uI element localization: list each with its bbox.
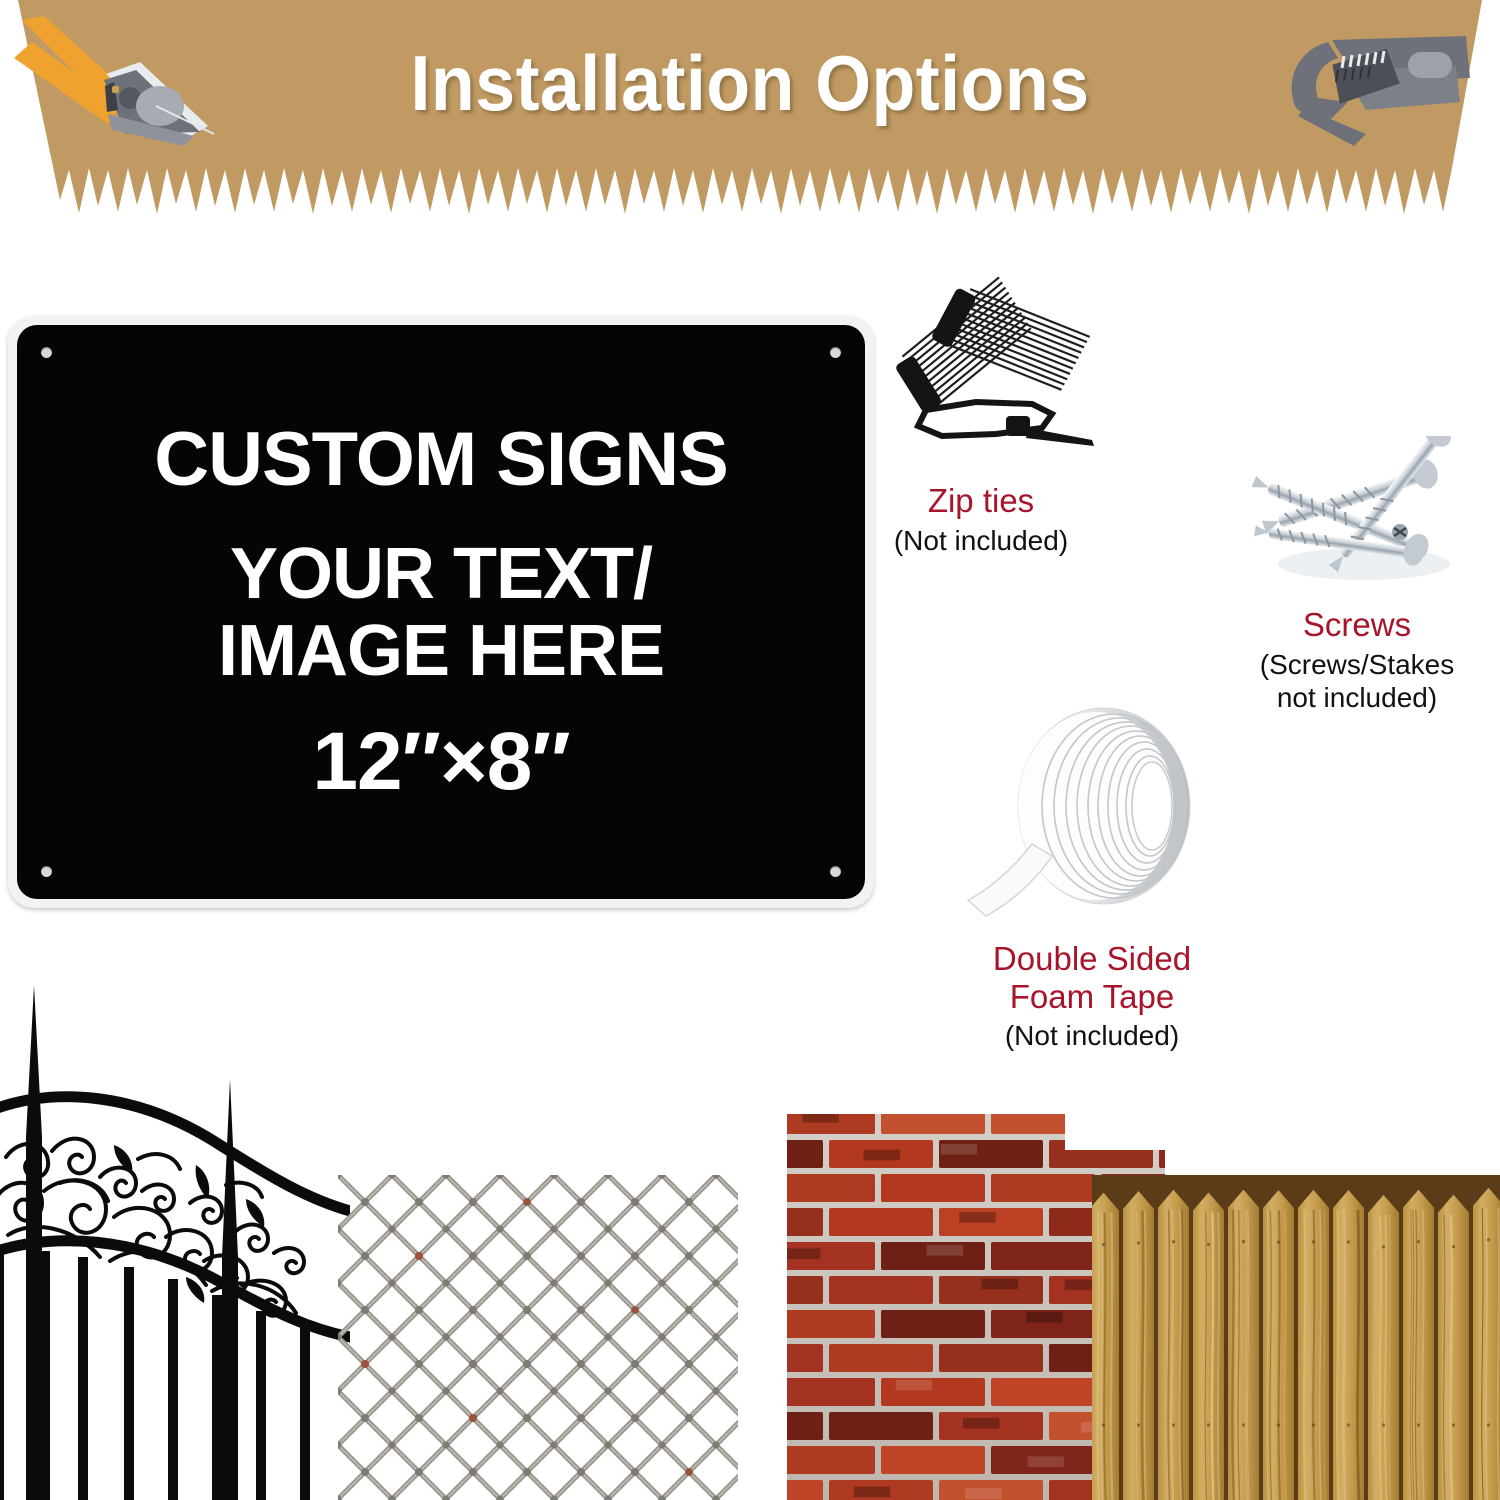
wrought-iron-gate-art xyxy=(0,985,350,1500)
accessory-screws: Screws (Screws/Stakes not included) xyxy=(1214,436,1500,714)
sign-size-label: 12″×8″ xyxy=(312,721,569,803)
sign-placeholder-line-2: IMAGE HERE xyxy=(218,613,664,689)
sign-text-block: CUSTOM SIGNS YOUR TEXT/ IMAGE HERE 12″×8… xyxy=(17,325,865,899)
sign-face: CUSTOM SIGNS YOUR TEXT/ IMAGE HERE 12″×8… xyxy=(17,325,865,899)
tin-snips-icon xyxy=(8,14,228,174)
header-banner: Installation Options xyxy=(0,0,1500,232)
custom-sign-preview: CUSTOM SIGNS YOUR TEXT/ IMAGE HERE 12″×8… xyxy=(8,316,874,908)
zip-ties-art xyxy=(856,268,1106,480)
adjustable-wrench-icon xyxy=(1270,16,1470,176)
screws-art xyxy=(1214,436,1500,598)
accessory-foam-tape: Double Sided Foam Tape (Not included) xyxy=(946,694,1238,1052)
zip-ties-note: (Not included) xyxy=(856,524,1106,557)
zip-ties-label: Zip ties xyxy=(856,482,1106,520)
screws-label: Screws xyxy=(1214,606,1500,644)
wooden-picket-fence-art xyxy=(1092,1175,1500,1500)
chain-link-fence-art xyxy=(338,1175,738,1500)
foam-tape-art xyxy=(946,694,1238,936)
screws-note: (Screws/Stakes not included) xyxy=(1214,648,1500,714)
accessory-zip-ties: Zip ties (Not included) xyxy=(856,268,1106,557)
sign-placeholder-line-1: YOUR TEXT/ xyxy=(230,536,652,612)
sign-heading: CUSTOM SIGNS xyxy=(154,421,728,499)
foam-tape-label: Double Sided Foam Tape xyxy=(946,940,1238,1015)
